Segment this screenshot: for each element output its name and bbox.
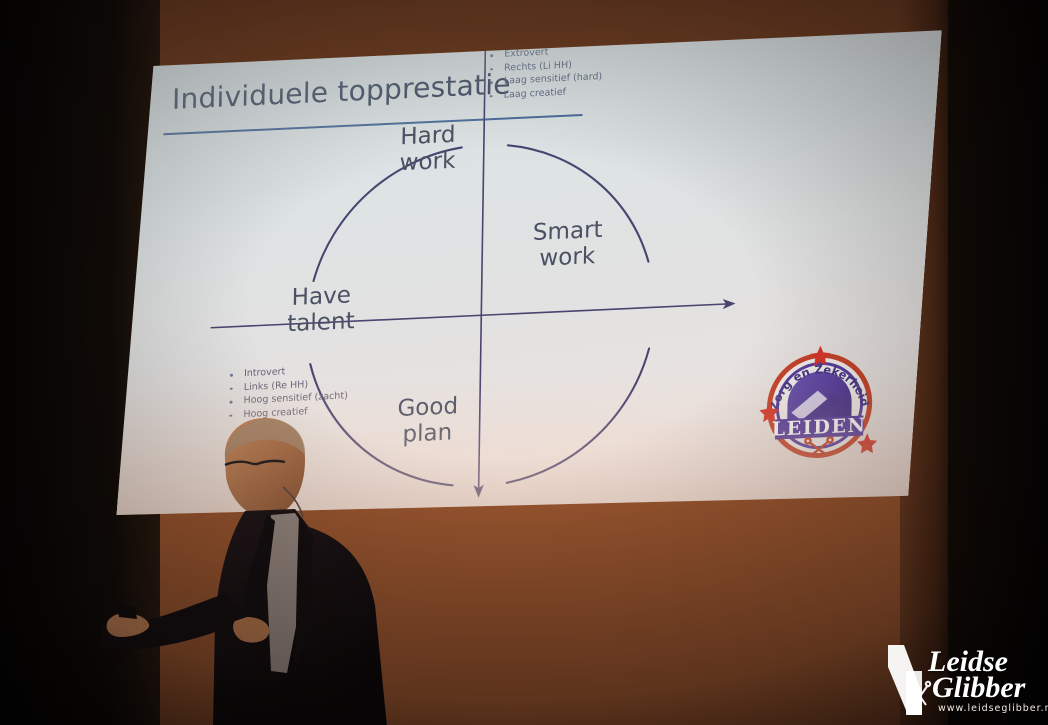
quadrant-smart-line2: work bbox=[539, 243, 595, 272]
quadrant-have-line2: talent bbox=[287, 308, 355, 337]
bullet-list-bottom-left: Introvert Links (Re HH) Hoog sensitief (… bbox=[229, 362, 348, 421]
vertical-axis bbox=[479, 51, 486, 497]
quadrant-label-smart-work: Smart work bbox=[512, 216, 623, 273]
quadrant-label-hard-work: Hard work bbox=[382, 121, 473, 177]
watermark-url: www.leidseglibber.nl bbox=[938, 703, 1048, 714]
watermark: Leidse Glibber www.leidseglibber.nl bbox=[882, 637, 1042, 721]
bullet-list-top-right: Extrovert Rechts (Li HH) Laag sensitief … bbox=[490, 43, 603, 102]
quadrant-have-line1: Have bbox=[291, 282, 351, 311]
quadrant-label-have-talent: Have talent bbox=[273, 281, 370, 337]
speaker-silhouette bbox=[95, 415, 445, 725]
quadrant-smart-line1: Smart bbox=[533, 217, 603, 246]
presentation-photo-scene: Individuele topprestatie bbox=[0, 0, 1048, 725]
zorg-en-zekerheid-leiden-logo: Zorg en Zekerheid LEIDEN bbox=[756, 341, 882, 471]
quadrant-hard-line1: Hard bbox=[400, 122, 456, 151]
watermark-line2: Glibber bbox=[932, 671, 1025, 705]
logo-banner-text: LEIDEN bbox=[772, 414, 867, 440]
quadrant-hard-line2: work bbox=[399, 148, 455, 177]
arc-bottom-right bbox=[507, 348, 649, 482]
clicker-device bbox=[117, 605, 137, 619]
